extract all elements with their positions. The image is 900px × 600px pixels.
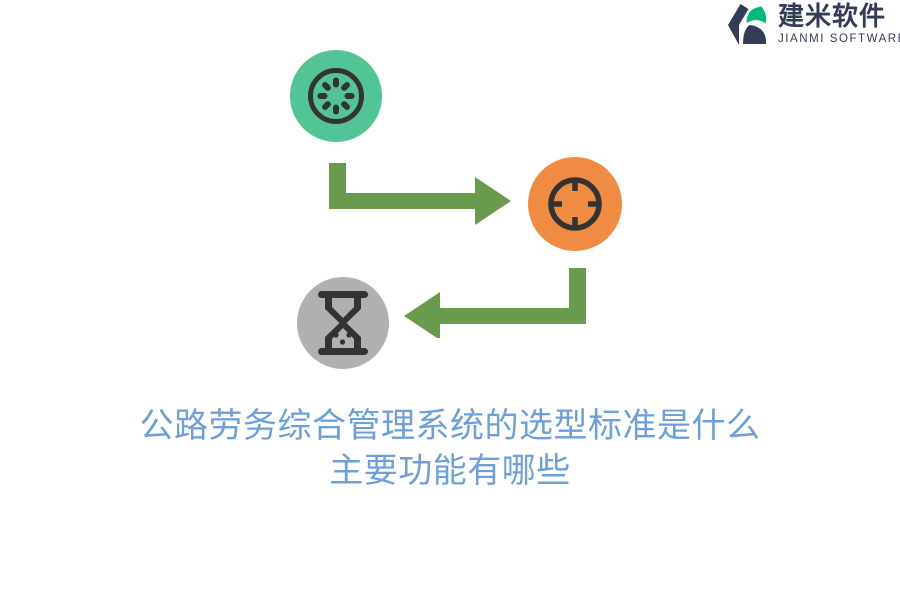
target-crosshair-icon [544,173,606,235]
page-title-line-2: 主要功能有哪些 [0,449,900,494]
page-title-line-1: 公路劳务综合管理系统的选型标准是什么 [0,404,900,449]
elbow-arrow-right-icon [325,163,515,225]
diagram-node-spinner [290,50,382,142]
process-diagram [0,0,900,400]
page-title: 公路劳务综合管理系统的选型标准是什么 主要功能有哪些 [0,404,900,494]
diagram-node-target [528,157,622,251]
diagram-node-hourglass [297,277,389,369]
loading-spinner-icon [306,66,366,126]
hourglass-icon [314,289,372,357]
elbow-arrow-left-icon [400,268,590,338]
